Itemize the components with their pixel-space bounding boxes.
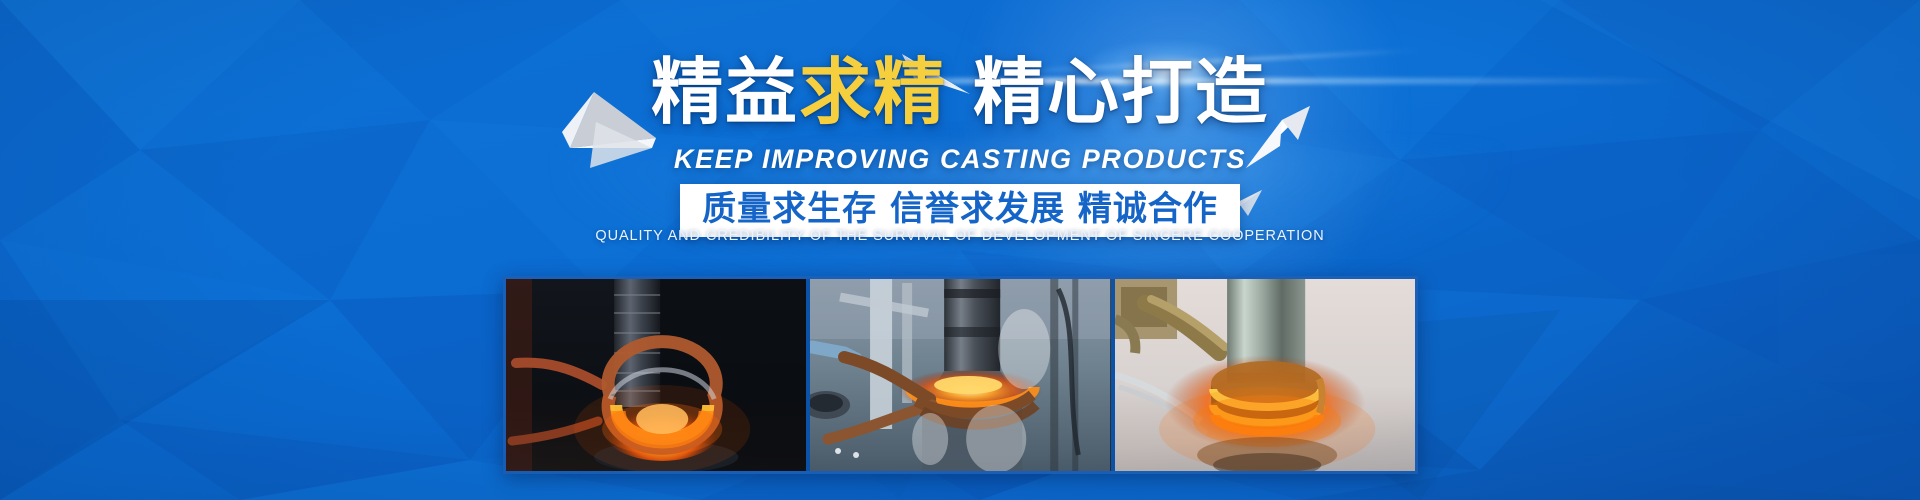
vignette-overlay (0, 0, 1920, 500)
promo-banner: 精益求精精心打造 KEEP IMPROVING CASTING PRODUCTS… (0, 0, 1920, 500)
